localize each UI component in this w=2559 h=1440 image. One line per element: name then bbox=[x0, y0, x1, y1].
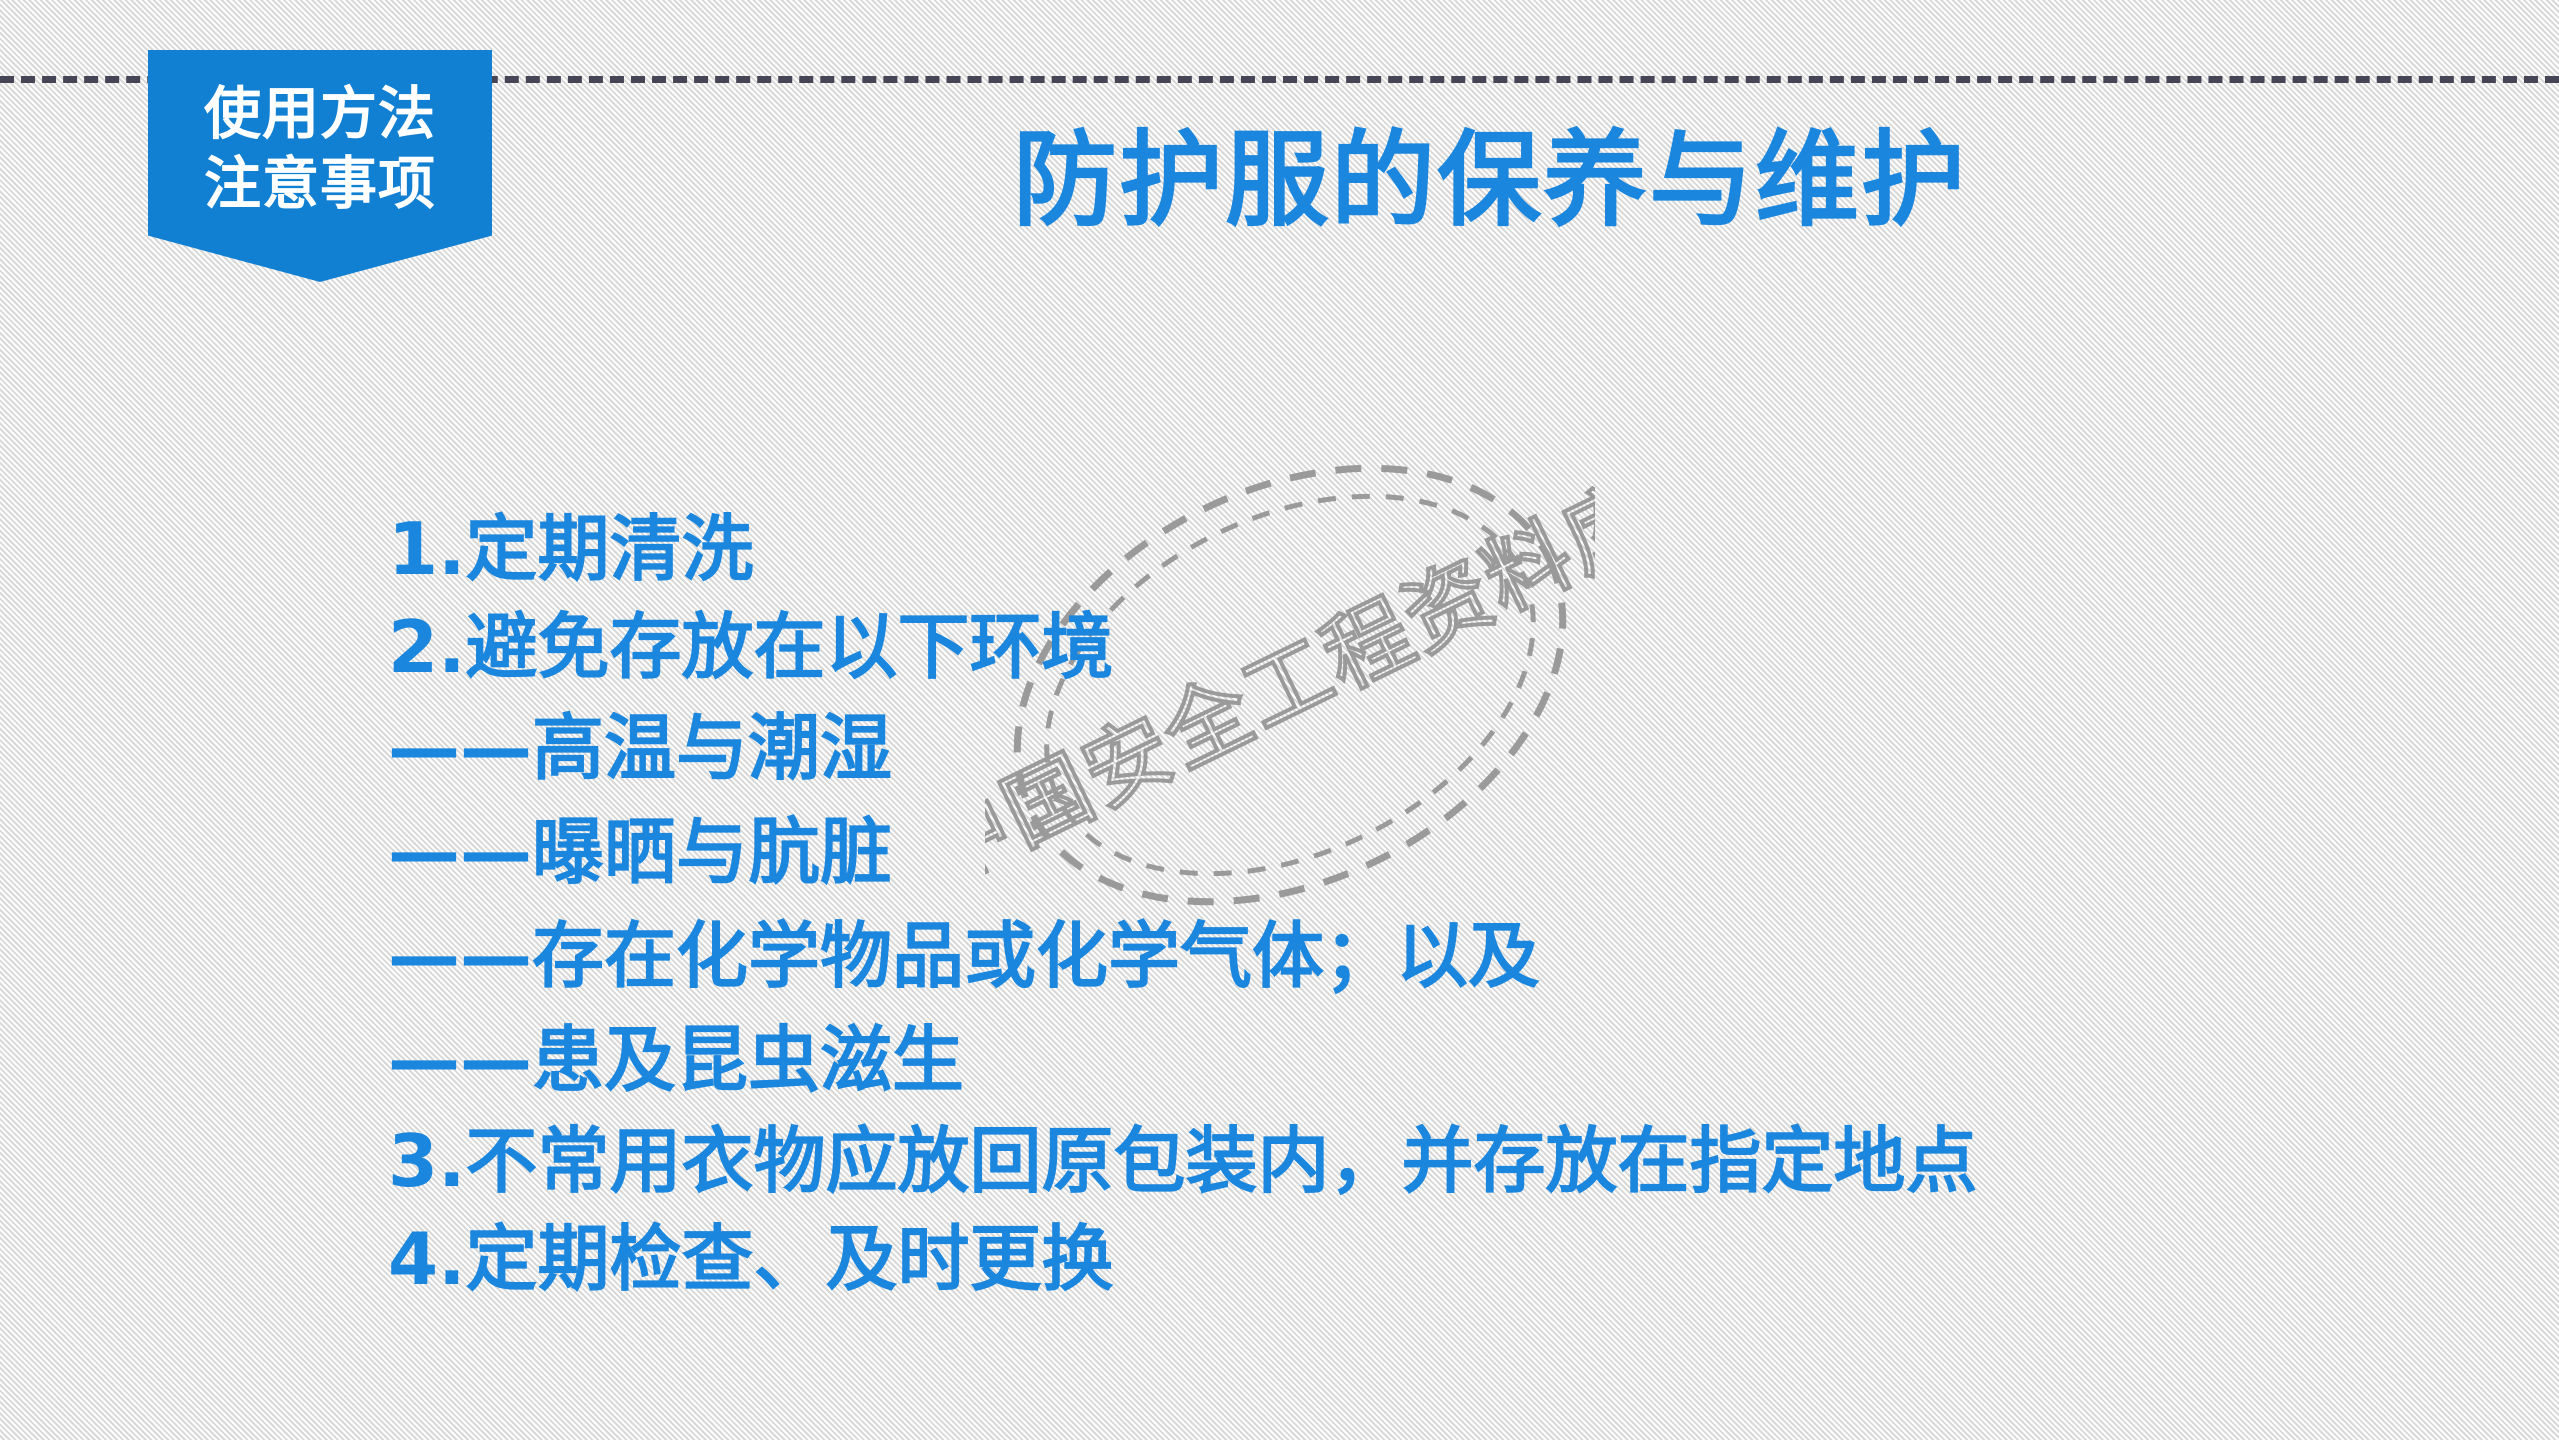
list-item: 1.定期清洗 bbox=[388, 500, 2388, 598]
list-item-sub: ——存在化学物品或化学气体；以及 bbox=[388, 904, 2388, 1008]
list-item: 4.定期检查、及时更换 bbox=[388, 1210, 2388, 1308]
slide-canvas: 中国安全工程资料库 使用方法 注意事项 防护服的保养与维护 1.定期清洗2.避免… bbox=[0, 0, 2559, 1440]
list-item: 2.避免存放在以下环境 bbox=[388, 598, 2388, 696]
list-item-sub: ——高温与潮湿 bbox=[388, 696, 2388, 800]
list-item-sub: ——曝晒与肮脏 bbox=[388, 800, 2388, 904]
list-item: 3.不常用衣物应放回原包装内，并存放在指定地点 bbox=[388, 1112, 2388, 1210]
badge-label: 使用方法 注意事项 bbox=[148, 80, 492, 219]
content-list: 1.定期清洗2.避免存放在以下环境——高温与潮湿——曝晒与肮脏——存在化学物品或… bbox=[388, 500, 2388, 1308]
list-item-sub: ——患及昆虫滋生 bbox=[388, 1008, 2388, 1112]
section-badge: 使用方法 注意事项 bbox=[148, 50, 492, 282]
page-title: 防护服的保养与维护 bbox=[540, 128, 2440, 232]
